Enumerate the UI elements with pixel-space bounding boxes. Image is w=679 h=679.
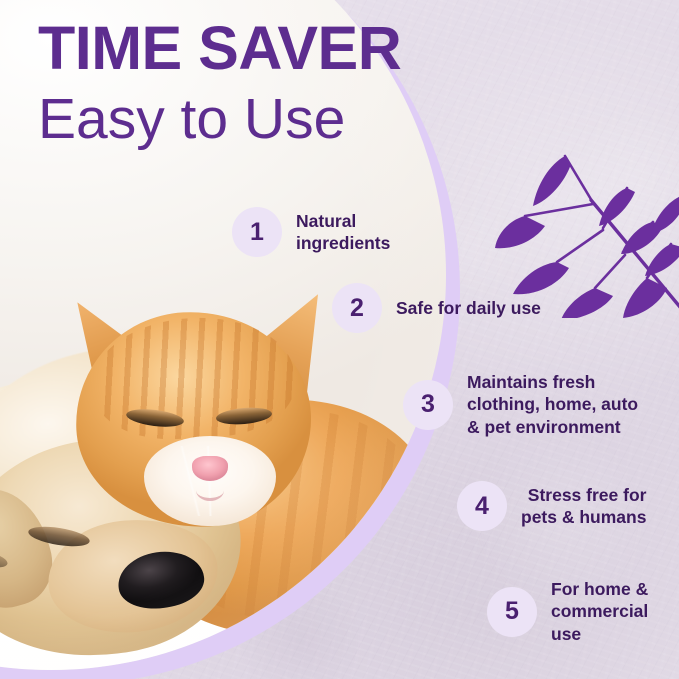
feature-number-1: 1 [232, 207, 282, 257]
feature-item-4[interactable]: 4 Stress free for pets & humans [457, 481, 646, 531]
feature-text-3: Maintains fresh clothing, home, auto & p… [467, 371, 638, 438]
feature-text-5: For home & commercial use [551, 578, 648, 645]
feature-text-1: Natural ingredients [296, 210, 390, 255]
feature-item-5[interactable]: 5 For home & commercial use [487, 578, 648, 645]
feature-number-5: 5 [487, 587, 537, 637]
product-feature-poster: TIME SAVER Easy to Use 1 Nat [0, 0, 679, 679]
feature-list: 1 Natural ingredients 2 Safe for daily u… [0, 0, 679, 679]
feature-text-2: Safe for daily use [396, 297, 541, 319]
feature-item-1[interactable]: 1 Natural ingredients [232, 207, 390, 257]
feature-item-2[interactable]: 2 Safe for daily use [332, 283, 541, 333]
feature-number-2: 2 [332, 283, 382, 333]
feature-number-4: 4 [457, 481, 507, 531]
feature-number-3: 3 [403, 380, 453, 430]
feature-text-4: Stress free for pets & humans [521, 484, 646, 529]
feature-item-3[interactable]: 3 Maintains fresh clothing, home, auto &… [403, 371, 638, 438]
